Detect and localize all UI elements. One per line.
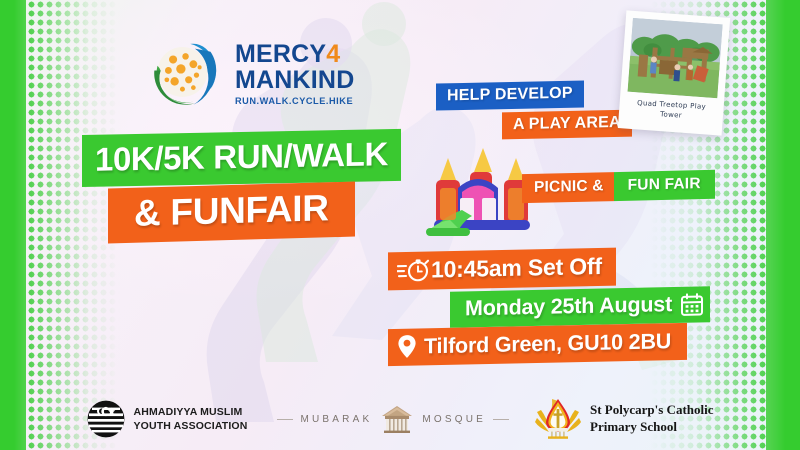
calendar-icon <box>680 292 704 317</box>
sponsor-st-polycarps: St Polycarp's Catholic Primary School <box>535 398 714 440</box>
st-polycarps-line1: St Polycarp's Catholic <box>590 402 714 419</box>
headline-row-1: 10K/5K RUN/WALK <box>82 132 401 184</box>
polaroid-photo-card: Quad Treetop Play Tower <box>618 10 730 135</box>
detail-location-text: Tilford Green, GU10 2BU <box>424 329 671 359</box>
picnic-badge: PICNIC & <box>522 172 614 203</box>
headline-line2: & FUNFAIR <box>108 182 355 244</box>
brand-name-line1: MERCY4 <box>235 42 354 68</box>
stopwatch-icon <box>397 257 431 284</box>
mosque-icon <box>379 404 415 434</box>
amya-name: AHMADIYYA MUSLIM YOUTH ASSOCIATION <box>134 405 248 433</box>
st-polycarps-name: St Polycarp's Catholic Primary School <box>590 402 714 436</box>
detail-date-row: Monday 25th August <box>450 286 710 327</box>
detail-date-text: Monday 25th August <box>465 292 672 321</box>
brand-logo: MERCY4 MANKIND RUN.WALK.CYCLE.HIKE <box>145 33 354 111</box>
brand-wordmark: MERCY4 MANKIND RUN.WALK.CYCLE.HIKE <box>235 38 354 106</box>
headline-row-2: & FUNFAIR <box>82 184 401 240</box>
sponsor-mubarak-mosque: MUBARAK MOSQUE <box>277 404 509 434</box>
event-details: 10:45am Set Off Monday 25th August <box>388 250 710 363</box>
brand-tagline: RUN.WALK.CYCLE.HIKE <box>235 96 354 106</box>
brand-accent-four: 4 <box>326 40 340 68</box>
detail-location-row: Tilford Green, GU10 2BU <box>388 323 687 366</box>
amya-name-line1: AHMADIYYA MUSLIM <box>134 405 248 419</box>
a-play-area-badge: A PLAY AREA <box>502 110 632 140</box>
play-area-badges: HELP DEVELOP A PLAY AREA <box>436 82 632 138</box>
headline: 10K/5K RUN/WALK & FUNFAIR <box>82 132 401 240</box>
mubarak-rule-right <box>493 419 509 420</box>
playground-tower-photo <box>628 18 723 98</box>
polaroid-caption: Quad Treetop Play Tower <box>626 97 717 122</box>
amya-flag-logo <box>87 400 125 438</box>
location-pin-icon <box>397 334 417 360</box>
detail-time-text: 10:45am Set Off <box>431 253 602 284</box>
bouncy-castle-icon <box>418 136 536 238</box>
sponsor-bar: AHMADIYYA MUSLIM YOUTH ASSOCIATION MUBAR… <box>0 388 800 450</box>
amya-name-line2: YOUTH ASSOCIATION <box>134 419 248 433</box>
picnic-funfair-badges: PICNIC & FUN FAIR <box>522 170 715 203</box>
help-develop-badge: HELP DEVELOP <box>436 80 584 110</box>
sponsor-amya: AHMADIYYA MUSLIM YOUTH ASSOCIATION <box>87 400 248 438</box>
detail-time-row: 10:45am Set Off <box>388 248 616 291</box>
st-polycarps-line2: Primary School <box>590 419 714 436</box>
funfair-badge: FUN FAIR <box>614 170 715 201</box>
brand-name-line2: MANKIND <box>235 68 354 94</box>
mubarak-rule-left <box>277 419 293 420</box>
mitre-crest-icon <box>535 398 581 440</box>
mubarak-word-right: MOSQUE <box>422 414 486 425</box>
mercy4mankind-globe-hands-logo <box>145 33 223 111</box>
mubarak-word-left: MUBARAK <box>300 414 372 425</box>
headline-line1: 10K/5K RUN/WALK <box>82 129 401 187</box>
event-poster: MERCY4 MANKIND RUN.WALK.CYCLE.HIKE 10K/5… <box>0 0 800 450</box>
